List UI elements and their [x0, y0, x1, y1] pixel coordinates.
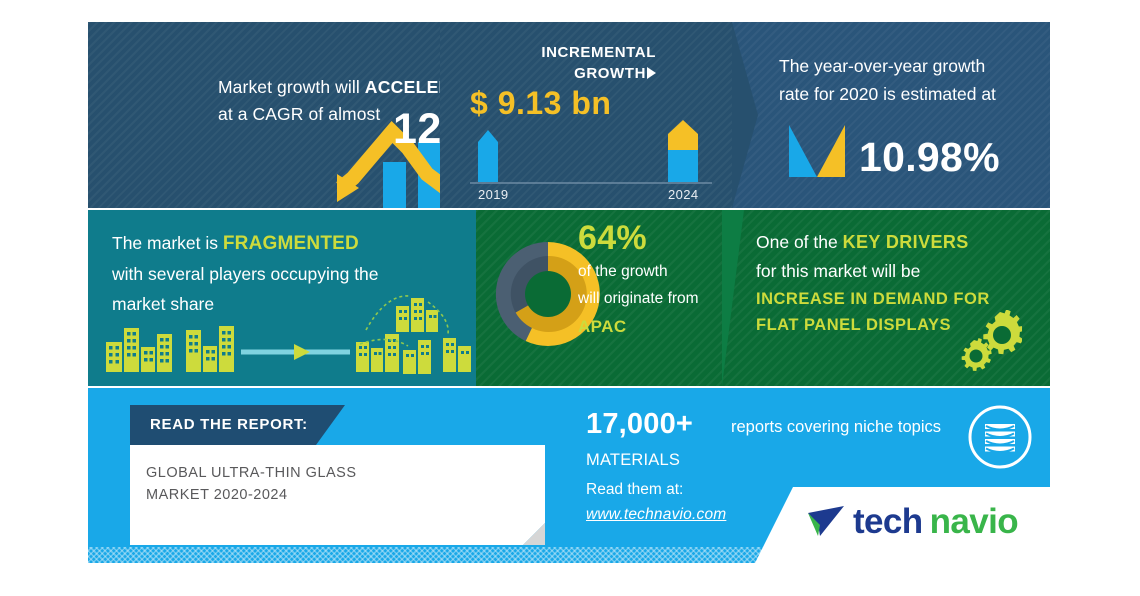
paper-plane-icon — [806, 504, 846, 540]
donut-text: 64% of the growth will originate from AP… — [578, 218, 728, 342]
database-icon — [967, 404, 1033, 470]
gears-icon — [960, 310, 1022, 372]
driver-detail-line1: INCREASE IN DEMAND FOR — [756, 286, 1046, 312]
panel-texture — [732, 22, 1050, 208]
donut-line2: will originate from — [578, 285, 728, 312]
donut-region: APAC — [578, 312, 728, 342]
infographic-canvas: Market growth will ACCELERATE at a CAGR … — [0, 0, 1140, 596]
incremental-heading-line2: GROWTH — [574, 65, 646, 82]
incremental-growth-value: $ 9.13 bn — [470, 85, 611, 122]
yoy-line1: The year-over-year growth — [779, 56, 985, 76]
panel-cagr: Market growth will ACCELERATE at a CAGR … — [88, 22, 440, 208]
logo-text-navio: navio — [930, 502, 1018, 542]
bar-1 — [383, 162, 406, 208]
yoy-text: The year-over-year growth rate for 2020 … — [779, 52, 1044, 108]
yoy-line2: rate for 2020 is estimated at — [779, 84, 996, 104]
growth-triangle-icon — [789, 125, 845, 177]
axis-label-2024: 2024 — [668, 187, 699, 202]
fragmented-line1-plain: The market is — [112, 233, 223, 253]
bar-2024-base — [668, 150, 698, 182]
incremental-growth-chart — [466, 120, 716, 186]
fragmented-market-illustration — [98, 290, 478, 382]
drivers-line1-plain: One of the — [756, 232, 843, 252]
donut-line1: of the growth — [578, 258, 728, 285]
logo-text-tech: tech — [853, 502, 923, 542]
drivers-line1-bold: KEY DRIVERS — [843, 232, 969, 252]
read-the-report-label: READ THE REPORT: — [150, 416, 308, 433]
axis-label-2019: 2019 — [478, 187, 509, 202]
drivers-line2: for this market will be — [756, 261, 920, 281]
read-the-report-tab: READ THE REPORT: — [130, 405, 345, 445]
donut-hole — [525, 271, 571, 317]
report-category: MATERIALS — [586, 451, 680, 470]
fragmented-line2: with several players occupying the — [112, 264, 379, 284]
bar-2024-increment — [668, 120, 698, 150]
read-them-at-label: Read them at: — [586, 481, 683, 499]
bar-2019 — [478, 130, 498, 182]
report-title-line2: MARKET 2020-2024 — [146, 487, 288, 503]
incremental-heading-line1: INCREMENTAL — [541, 44, 656, 61]
report-title-line1: GLOBAL ULTRA-THIN GLASS — [146, 465, 357, 481]
technavio-url-link[interactable]: www.technavio.com — [586, 506, 726, 524]
yoy-value: 10.98% — [859, 139, 1000, 177]
city-cluster-right — [356, 298, 471, 374]
reports-count: 17,000+ — [586, 408, 693, 441]
city-cluster-left — [106, 326, 234, 372]
caret-right-icon — [647, 67, 656, 79]
reports-caption: reports covering niche topics — [731, 418, 941, 437]
fragmented-line1-bold: FRAGMENTED — [223, 233, 359, 254]
technavio-logo[interactable]: technavio — [806, 502, 1018, 542]
apac-share-value: 64% — [578, 218, 728, 258]
report-title: GLOBAL ULTRA-THIN GLASS MARKET 2020-2024 — [146, 462, 526, 506]
cagr-value: 12% — [393, 105, 440, 154]
incremental-growth-heading: INCREMENTAL GROWTH — [466, 42, 656, 84]
yoy-value-row: 10.98% — [789, 125, 1000, 177]
panel-yoy-growth — [732, 22, 1050, 208]
progress-arrow — [241, 344, 350, 360]
